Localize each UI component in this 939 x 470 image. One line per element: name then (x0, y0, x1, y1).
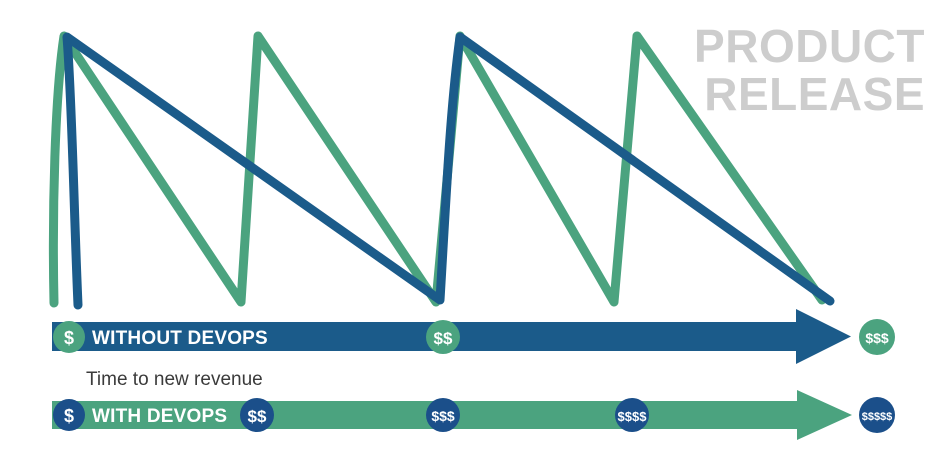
without-devops-end-badge[interactable]: $$$ (859, 319, 895, 355)
with-devops-label: WITH DEVOPS (92, 406, 227, 427)
without-devops-start-badge[interactable]: $ (53, 321, 85, 353)
watermark-product-release: PRODUCT RELEASE (694, 20, 925, 120)
with-devops-mid-badge-2[interactable]: $$$ (426, 398, 460, 432)
with-devops-end-badge[interactable]: $$$$$ (859, 397, 895, 433)
row-without-devops[interactable]: $ WITHOUT DEVOPS $$ $$$ (52, 309, 895, 364)
with-devops-mid-badge-1[interactable]: $$ (240, 398, 274, 432)
without-devops-mid-badge-1[interactable]: $$ (426, 320, 460, 354)
time-to-new-revenue-caption: Time to new revenue (86, 369, 263, 390)
badge-label: $$ (434, 329, 453, 348)
badge-label: $$$$$ (862, 411, 893, 423)
badge-label: $$ (248, 407, 267, 426)
badge-label: $ (64, 406, 74, 426)
watermark-line2: RELEASE (704, 68, 925, 120)
without-devops-label: WITHOUT DEVOPS (92, 328, 268, 349)
with-devops-mid-badge-3[interactable]: $$$$ (615, 398, 649, 432)
badge-label: $$$ (865, 330, 889, 346)
infographic-canvas: PRODUCT RELEASE $ WITHOUT DEVOPS $$ $$$ (0, 0, 939, 470)
watermark-line1: PRODUCT (694, 20, 925, 72)
badge-label: $$$$ (618, 409, 648, 424)
with-devops-start-badge[interactable]: $ (53, 399, 85, 431)
row-with-devops[interactable]: $ WITH DEVOPS $$ $$$ $$$$ $$$$ (52, 390, 895, 440)
badge-label: $$$ (431, 408, 455, 424)
badge-label: $ (64, 328, 74, 348)
